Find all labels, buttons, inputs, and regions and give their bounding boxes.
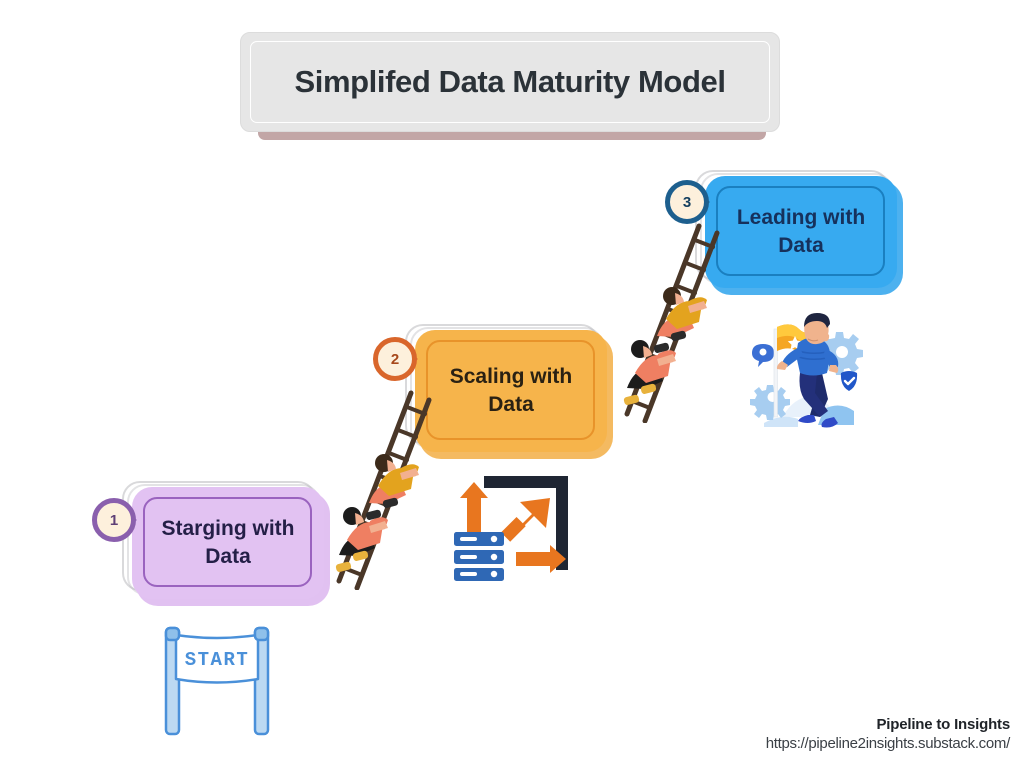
footer-brand: Pipeline to Insights: [766, 716, 1010, 733]
start-banner-icon: START: [158, 625, 276, 737]
stage-number-badge-3[interactable]: 3: [665, 180, 709, 224]
title-card-inner: Simplifed Data Maturity Model: [250, 41, 770, 123]
stage-box-body: Starging with Data: [132, 487, 324, 599]
footer-url[interactable]: https://pipeline2insights.substack.com/: [766, 735, 1010, 752]
footer: Pipeline to Insights https://pipeline2in…: [766, 716, 1010, 752]
stage-inner-outline: [426, 340, 595, 440]
stage-box-leading-with-data[interactable]: Leading with Data: [705, 176, 897, 288]
badge-number: 3: [665, 180, 709, 224]
stage-box-scaling-with-data[interactable]: Scaling with Data: [415, 330, 607, 452]
stage-inner-outline: [143, 497, 312, 587]
ladder-with-climbers-icon: [325, 385, 435, 590]
stage-number-badge-2[interactable]: 2: [373, 337, 417, 381]
stage-box-body: Scaling with Data: [415, 330, 607, 452]
stage-inner-outline: [716, 186, 885, 276]
leader-with-flag-and-gears-icon: [738, 305, 866, 433]
start-banner-text: START: [185, 649, 250, 671]
title-card-outer: Simplifed Data Maturity Model: [240, 32, 780, 132]
stage-box-starting-with-data[interactable]: Starging with Data: [132, 487, 324, 599]
badge-number: 2: [373, 337, 417, 381]
stage-box-body: Leading with Data: [705, 176, 897, 288]
stage-number-badge-1[interactable]: 1: [92, 498, 136, 542]
page-title: Simplifed Data Maturity Model: [294, 64, 725, 100]
badge-number: 1: [92, 498, 136, 542]
server-scaling-arrows-icon: [452, 470, 576, 582]
diagram-canvas: Simplifed Data Maturity Model Starging w…: [0, 0, 1024, 768]
ladder-with-climbers-icon: [613, 218, 723, 423]
title-card: Simplifed Data Maturity Model: [240, 32, 780, 132]
